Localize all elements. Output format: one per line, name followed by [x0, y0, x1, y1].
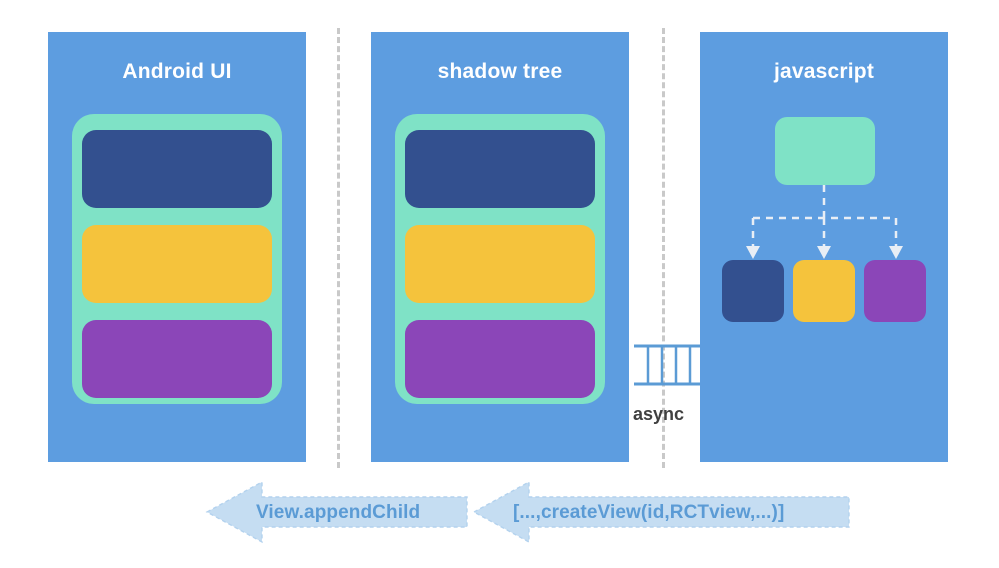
diagram-canvas: Android UI shadow tree async javascript: [0, 0, 999, 568]
bottom-arrows: [0, 0, 999, 568]
arrow-create-view-label: [...,createView(id,RCTview,...)]: [513, 502, 784, 524]
arrow-view-append-child-label: View.appendChild: [256, 502, 420, 524]
